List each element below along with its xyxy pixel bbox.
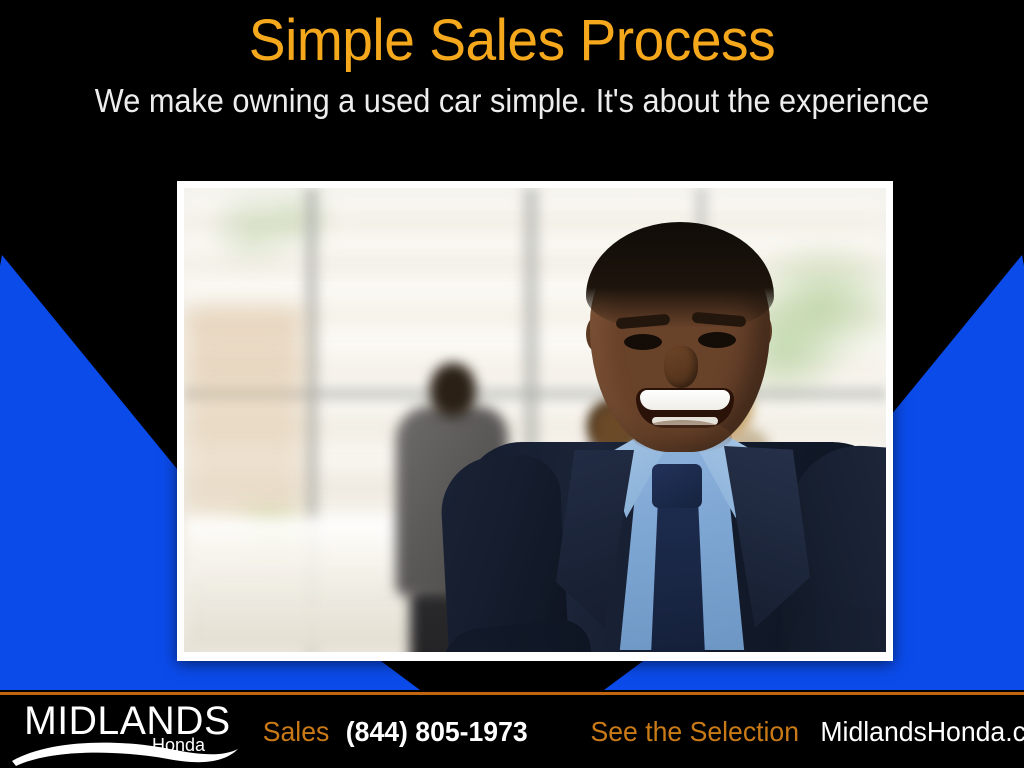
- logo-swoosh-icon: [10, 737, 240, 767]
- foreground-salesman: [184, 188, 886, 652]
- footer-contact-info: Sales (844) 805-1973 See the Selection M…: [261, 717, 1024, 747]
- footer-bar: MIDLANDS Honda Sales (844) 805-1973 See …: [0, 692, 1024, 768]
- photo-frame: [177, 181, 893, 661]
- salesman-eye-right: [698, 332, 736, 348]
- salesman-eye-left: [624, 334, 662, 350]
- hero-photo: [184, 188, 886, 652]
- footer-content: MIDLANDS Honda Sales (844) 805-1973 See …: [0, 695, 1024, 768]
- website-url[interactable]: MidlandsHonda.com: [820, 717, 1024, 747]
- slide-canvas: Simple Sales Process We make owning a us…: [0, 0, 1024, 768]
- midlands-honda-logo[interactable]: MIDLANDS Honda: [0, 695, 245, 768]
- salesman-nose: [664, 346, 698, 388]
- see-selection-label: See the Selection: [590, 717, 799, 747]
- sales-phone-number[interactable]: (844) 805-1973: [346, 717, 528, 747]
- salesman-tie-knot: [652, 464, 702, 508]
- salesman-teeth-upper: [640, 390, 730, 410]
- sales-label: Sales: [263, 717, 330, 747]
- page-subtitle: We make owning a used car simple. It's a…: [36, 76, 988, 122]
- salesman-chin-shadow: [632, 420, 732, 454]
- page-title: Simple Sales Process: [26, 0, 999, 76]
- salesman-hair: [586, 222, 774, 328]
- salesman-necktie: [650, 502, 706, 652]
- header-block: Simple Sales Process We make owning a us…: [0, 0, 1024, 150]
